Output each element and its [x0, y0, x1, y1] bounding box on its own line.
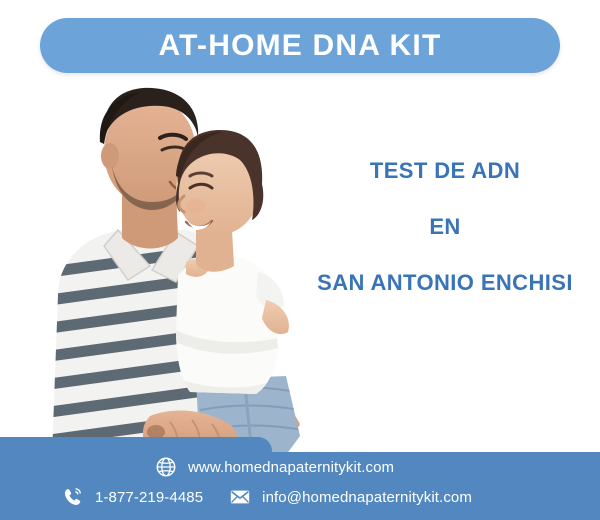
headline-line-1: TEST DE ADN — [300, 160, 590, 182]
contact-website[interactable]: www.homednapaternitykit.com — [155, 456, 394, 478]
website-text: www.homednapaternitykit.com — [188, 459, 394, 476]
headline-block: TEST DE ADN EN SAN ANTONIO ENCHISI — [300, 160, 590, 294]
father-holding-toddler-photo — [0, 80, 330, 455]
footer-website-row: www.homednapaternitykit.com — [155, 456, 394, 478]
contact-phone[interactable]: 1-877-219-4485 — [62, 486, 203, 508]
phone-text: 1-877-219-4485 — [95, 489, 203, 506]
headline-line-2: EN — [300, 216, 590, 238]
page-title: AT-HOME DNA KIT — [159, 31, 442, 61]
email-text: info@homednapaternitykit.com — [262, 489, 472, 506]
header-badge: AT-HOME DNA KIT — [40, 18, 560, 73]
globe-icon — [155, 456, 177, 478]
phone-ringing-icon — [62, 486, 84, 508]
envelope-icon — [229, 486, 251, 508]
poster-canvas: AT-HOME DNA KIT — [0, 0, 600, 520]
footer-contact-row: 1-877-219-4485 info@homednapaternitykit.… — [62, 486, 472, 508]
contact-email[interactable]: info@homednapaternitykit.com — [229, 486, 472, 508]
headline-line-3: SAN ANTONIO ENCHISI — [300, 272, 590, 294]
